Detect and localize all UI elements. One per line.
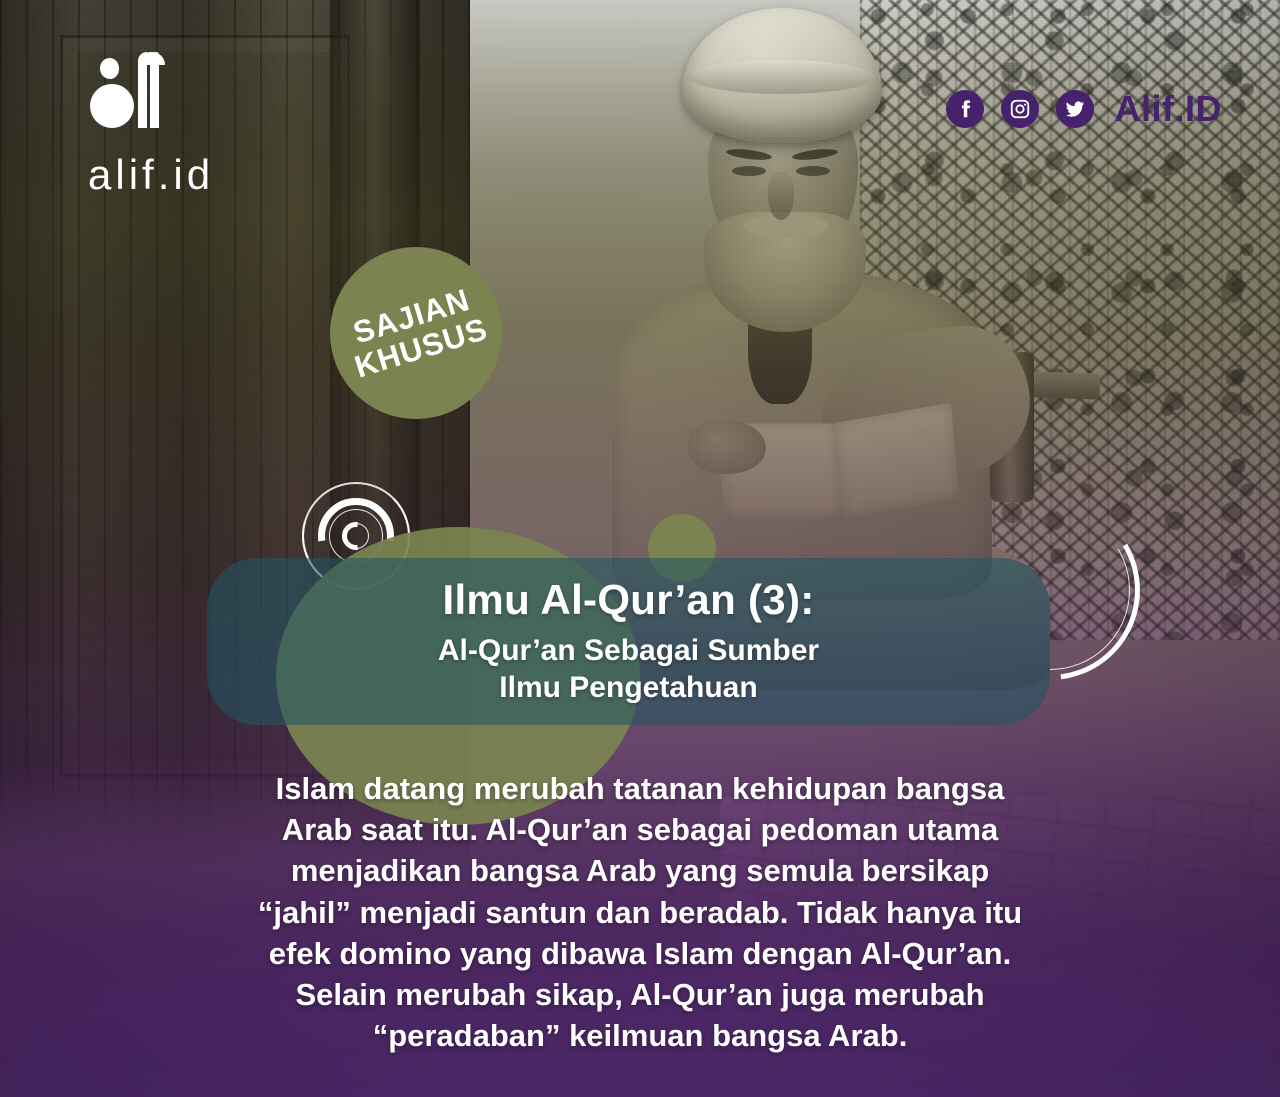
badge-text: SAJIAN KHUSUS xyxy=(341,282,491,384)
brand-wordmark: alif.id xyxy=(88,154,328,196)
sajian-khusus-badge[interactable]: SAJIAN KHUSUS xyxy=(330,247,502,419)
twitter-icon[interactable] xyxy=(1056,90,1094,128)
brand-logo[interactable]: alif.id xyxy=(88,52,328,196)
alif-logo-icon xyxy=(88,52,166,132)
logo-alif-stroke xyxy=(138,52,165,128)
facebook-icon[interactable] xyxy=(946,90,984,128)
body-text: Islam datang merubah tatanan kehidupan b… xyxy=(160,768,1120,1057)
page-subtitle: Al-Qur’an Sebagai Sumber Ilmu Pengetahua… xyxy=(438,633,819,707)
poster-content: alif.id Alif.ID SAJIAN KHUSUS xyxy=(0,0,1280,1097)
instagram-icon[interactable] xyxy=(1001,90,1039,128)
logo-circle xyxy=(90,84,134,128)
page-title: Ilmu Al-Qur’an (3): xyxy=(442,576,814,624)
logo-dot xyxy=(100,58,119,79)
title-banner: Ilmu Al-Qur’an (3): Al-Qur’an Sebagai Su… xyxy=(207,558,1050,725)
subtitle-line-1: Al-Qur’an Sebagai Sumber xyxy=(438,634,819,667)
subtitle-line-2: Ilmu Pengetahuan xyxy=(499,671,757,704)
poster-canvas: alif.id Alif.ID SAJIAN KHUSUS xyxy=(0,0,1280,1097)
body-copy: Islam datang merubah tatanan kehidupan b… xyxy=(160,768,1120,1057)
brand-handle: Alif.ID xyxy=(1115,88,1223,130)
social-links: Alif.ID xyxy=(946,88,1223,130)
